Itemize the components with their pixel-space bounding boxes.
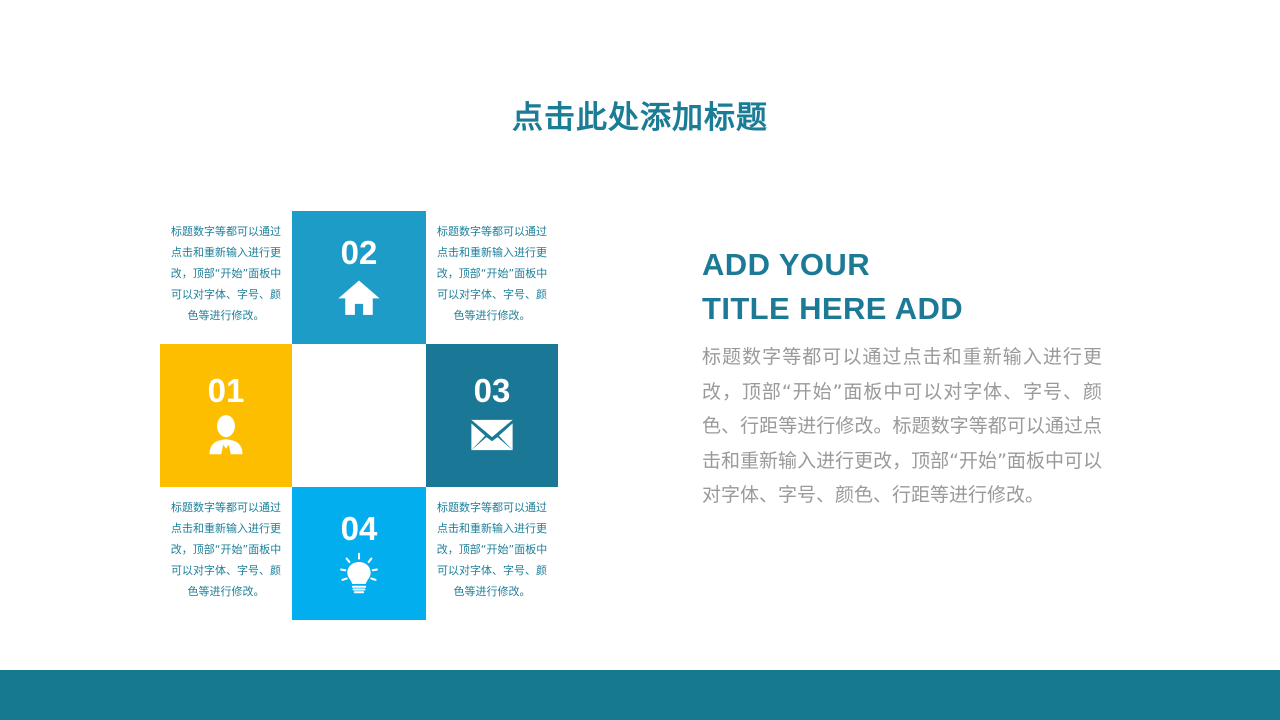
step-number-01: 01 [208, 374, 245, 407]
infographic-grid: 标题数字等都可以通过点击和重新输入进行更改，顶部“开始”面板中可以对字体、字号、… [160, 211, 558, 620]
page-title: 点击此处添加标题 [0, 92, 1280, 137]
step-card-03[interactable]: 03 [426, 344, 558, 487]
center-blank-cell [292, 344, 426, 487]
caption-top-right: 标题数字等都可以通过点击和重新输入进行更改，顶部“开始”面板中可以对字体、字号、… [426, 211, 558, 344]
caption-bottom-right: 标题数字等都可以通过点击和重新输入进行更改，顶部“开始”面板中可以对字体、字号、… [426, 487, 558, 620]
caption-top-left: 标题数字等都可以通过点击和重新输入进行更改，顶部“开始”面板中可以对字体、字号、… [160, 211, 292, 344]
content-heading-line1: ADD YOUR [702, 243, 1102, 287]
step-card-01[interactable]: 01 [160, 344, 292, 487]
step-number-03: 03 [474, 374, 511, 407]
footer-bar [0, 670, 1280, 720]
user-icon [204, 413, 248, 457]
step-card-02[interactable]: 02 [292, 211, 426, 344]
content-block: ADD YOUR TITLE HERE ADD 标题数字等都可以通过点击和重新输… [702, 243, 1102, 513]
caption-bottom-left: 标题数字等都可以通过点击和重新输入进行更改，顶部“开始”面板中可以对字体、字号、… [160, 487, 292, 620]
step-number-04: 04 [341, 512, 378, 545]
content-body-text: 标题数字等都可以通过点击和重新输入进行更改，顶部“开始”面板中可以对字体、字号、… [702, 340, 1102, 513]
lightbulb-icon [337, 551, 381, 595]
step-number-02: 02 [341, 236, 378, 269]
content-heading-line2: TITLE HERE ADD [702, 287, 1102, 331]
step-card-04[interactable]: 04 [292, 487, 426, 620]
envelope-icon [470, 413, 514, 457]
home-icon [337, 275, 381, 319]
content-heading: ADD YOUR TITLE HERE ADD [702, 243, 1102, 331]
